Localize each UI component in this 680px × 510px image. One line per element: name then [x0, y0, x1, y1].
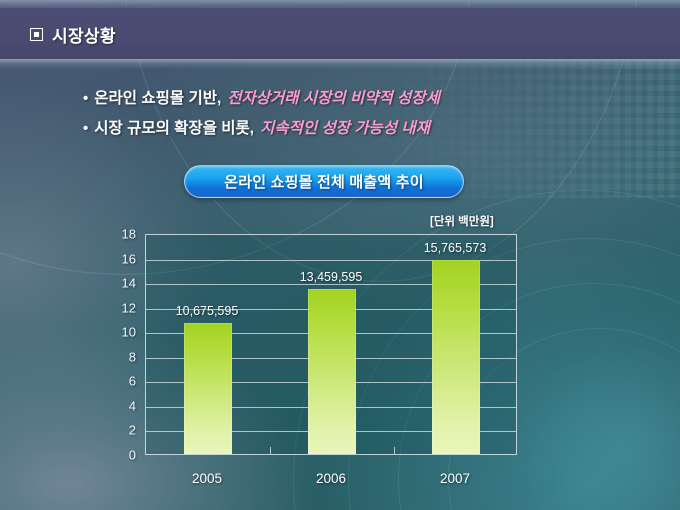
bar-2005	[184, 323, 232, 454]
header-highlight-strip	[0, 0, 680, 7]
x-axis-tick	[270, 447, 271, 454]
plot-area	[145, 234, 517, 455]
y-axis-tick-label: 16	[110, 252, 136, 265]
bullet-marker: •	[83, 91, 88, 106]
bar-2007	[432, 260, 480, 454]
y-axis-tick-label: 4	[110, 399, 136, 412]
y-axis-tick-label: 6	[110, 375, 136, 388]
bullet-text-plain: 시장 규모의 확장을 비롯,	[94, 116, 254, 138]
bullet-text-emphasis: 지속적인 성장 가능성 내재	[260, 116, 430, 138]
y-axis-tick-label: 12	[110, 301, 136, 314]
y-axis-tick-label: 0	[110, 449, 136, 462]
y-axis-tick-label: 8	[110, 350, 136, 363]
chart-title-label: 온라인 쇼핑몰 전체 매출액 추이	[224, 171, 423, 192]
chart-title-pill: 온라인 쇼핑몰 전체 매출액 추이	[184, 165, 464, 198]
slide-canvas: 시장상황 • 온라인 쇼핑몰 기반, 전자상거래 시장의 비약적 성장세 • 시…	[0, 0, 680, 510]
x-axis-tick-label: 2005	[192, 471, 222, 486]
bar-value-label: 10,675,595	[176, 304, 239, 318]
bar-value-label: 13,459,595	[300, 270, 363, 284]
bullet-marker: •	[83, 121, 88, 136]
square-bullet-icon	[30, 28, 43, 41]
list-item: • 시장 규모의 확장을 비롯, 지속적인 성장 가능성 내재	[83, 116, 603, 138]
chart-unit-label: [단위 백만원]	[430, 213, 494, 229]
header-underline-strip	[0, 59, 680, 69]
list-item: • 온라인 쇼핑몰 기반, 전자상거래 시장의 비약적 성장세	[83, 86, 603, 108]
page-title: 시장상황	[52, 22, 116, 47]
page-title-row: 시장상황	[30, 22, 116, 47]
bar-chart: 024681012141618 200520062007 10,675,5951…	[110, 228, 530, 478]
bar-2006	[308, 289, 356, 454]
x-axis-tick	[394, 447, 395, 454]
y-axis-tick-label: 2	[110, 424, 136, 437]
bullet-text-emphasis: 전자상거래 시장의 비약적 성장세	[227, 86, 440, 108]
bar-value-label: 15,765,573	[424, 241, 487, 255]
x-axis-tick-label: 2006	[316, 471, 346, 486]
y-axis-tick-label: 14	[110, 277, 136, 290]
y-axis-tick-label: 10	[110, 326, 136, 339]
y-axis-tick-label: 18	[110, 228, 136, 241]
bullet-list: • 온라인 쇼핑몰 기반, 전자상거래 시장의 비약적 성장세 • 시장 규모의…	[83, 86, 603, 146]
bullet-text-plain: 온라인 쇼핑몰 기반,	[94, 86, 221, 108]
x-axis-tick-label: 2007	[440, 471, 470, 486]
